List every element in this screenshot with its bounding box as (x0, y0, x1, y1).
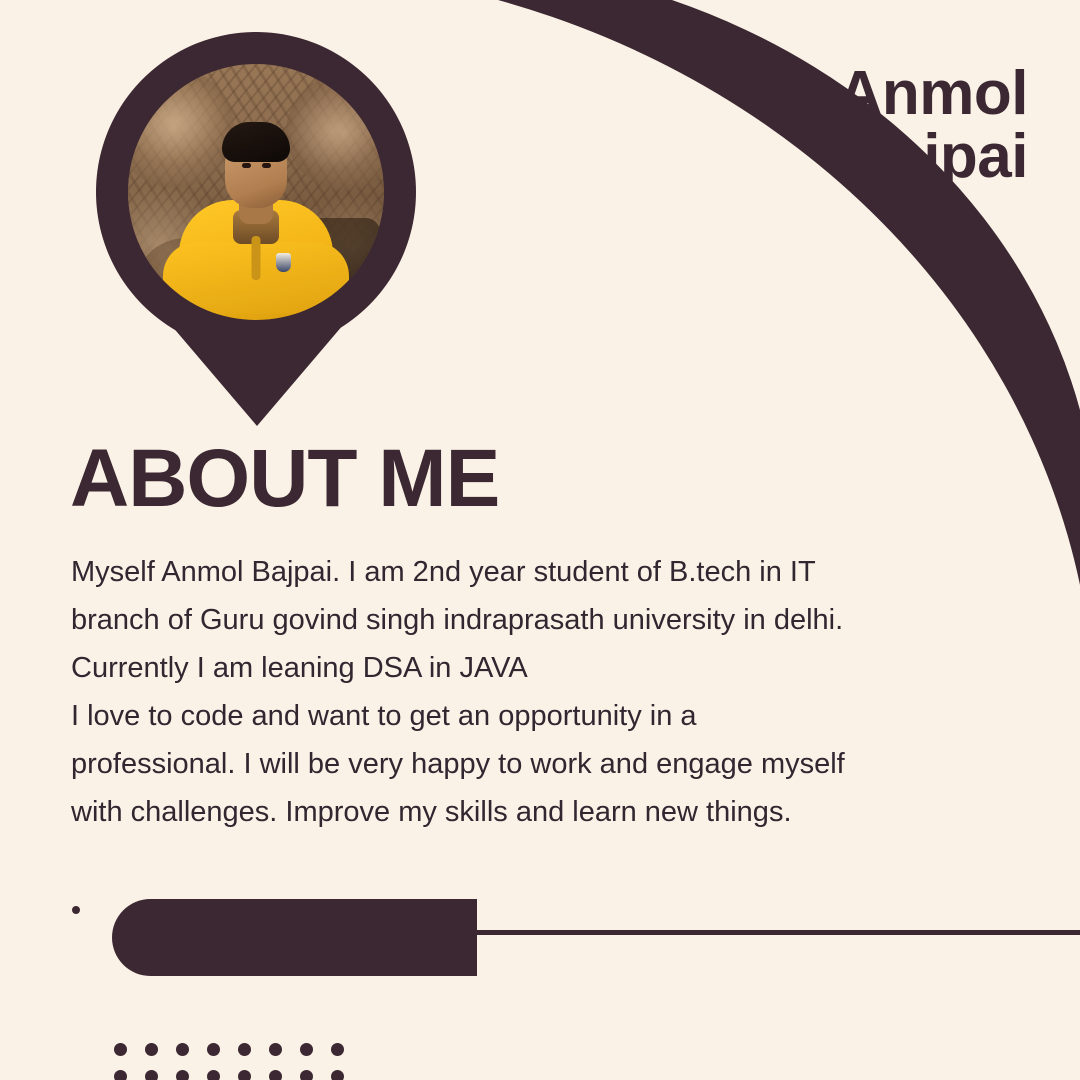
grid-dot (300, 1070, 313, 1080)
small-dot-decoration (72, 906, 80, 914)
bio-paragraph-1: Myself Anmol Bajpai. I am 2nd year stude… (71, 548, 911, 692)
grid-dot (176, 1043, 189, 1056)
rounded-bar-decoration (112, 899, 477, 976)
map-pin-photo-icon (88, 26, 424, 432)
grid-dot (114, 1070, 127, 1080)
grid-dot (238, 1043, 251, 1056)
section-heading: ABOUT ME (70, 438, 499, 520)
avatar (88, 26, 424, 432)
grid-dot (176, 1070, 189, 1080)
about-me-poster: Anmol Bajpai ABOUT ME Myself Anmol Bajpa… (0, 0, 1080, 1080)
bio-line: professional. I will be very happy to wo… (71, 740, 911, 788)
bio-line: Myself Anmol Bajpai. I am 2nd year stude… (71, 548, 911, 596)
grid-dot (331, 1043, 344, 1056)
grid-dot (331, 1070, 344, 1080)
bio-line: branch of Guru govind singh indraprasath… (71, 596, 911, 644)
grid-dot (207, 1070, 220, 1080)
bio-line: I love to code and want to get an opport… (71, 692, 911, 740)
horizontal-rule-decoration (477, 930, 1080, 935)
grid-dot (207, 1043, 220, 1056)
grid-dot (238, 1070, 251, 1080)
grid-dot (114, 1043, 127, 1056)
grid-dot (300, 1043, 313, 1056)
grid-dot (145, 1043, 158, 1056)
page-title: Anmol Bajpai (428, 62, 1028, 188)
bio-line: Currently I am leaning DSA in JAVA (71, 644, 911, 692)
bio-paragraph-2: I love to code and want to get an opport… (71, 692, 911, 836)
grid-dot (145, 1070, 158, 1080)
avatar-photo (128, 64, 384, 320)
grid-dot (269, 1070, 282, 1080)
grid-dot (269, 1043, 282, 1056)
bio-line: with challenges. Improve my skills and l… (71, 788, 911, 836)
dot-grid-decoration (114, 1043, 362, 1080)
